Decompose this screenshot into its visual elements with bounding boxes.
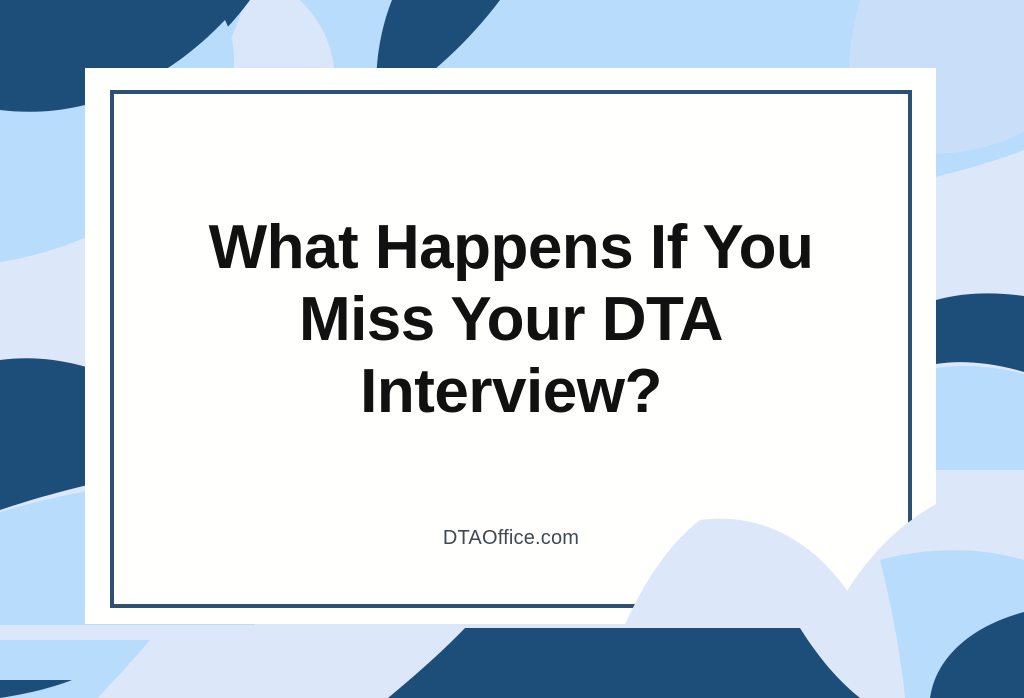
page-title-line-3: Interview? [360, 357, 662, 426]
site-name-label: DTAOffice.com [443, 526, 579, 550]
poster-canvas: What Happens If You Miss Your DTA Interv… [0, 0, 1024, 698]
page-title-line-1: What Happens If You [209, 213, 814, 282]
right-light-blue-fill [936, 366, 1024, 470]
card-content: What Happens If You Miss Your DTA Interv… [110, 90, 912, 608]
right-navy-band [936, 293, 1024, 372]
page-title-line-2: Miss Your DTA [299, 285, 723, 354]
page-title: What Happens If You Miss Your DTA Interv… [110, 212, 912, 428]
